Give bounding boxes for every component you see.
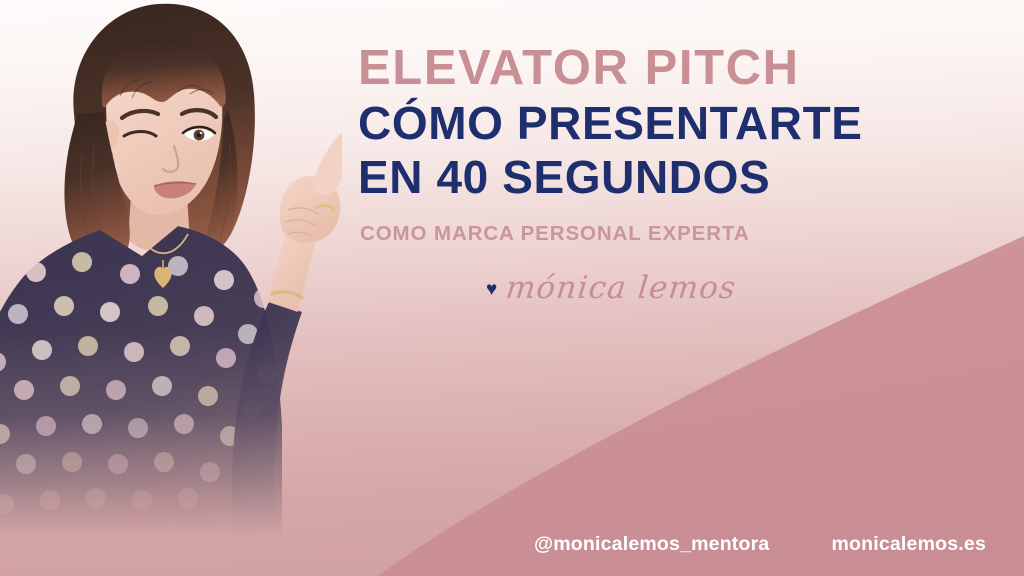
pointing-index-finger [312, 132, 342, 195]
signature-block: ♥ mónica lemos [358, 270, 998, 306]
headline-line-1: ELEVATOR PITCH [358, 44, 998, 93]
headline-line-2: CÓMO PRESENTARTE [358, 99, 998, 149]
headline-block: ELEVATOR PITCH CÓMO PRESENTARTE EN 40 SE… [358, 44, 998, 306]
signature-name: mónica lemos [504, 270, 738, 306]
instagram-handle[interactable]: @monicalemos_mentora [534, 533, 769, 556]
headline-line-3: EN 40 SEGUNDOS [358, 153, 998, 203]
subtitle: COMO MARCA PERSONAL EXPERTA [360, 222, 998, 246]
poster-canvas: ELEVATOR PITCH CÓMO PRESENTARTE EN 40 SE… [0, 0, 1024, 576]
footer-bar: @monicalemos_mentora monicalemos.es [0, 512, 1024, 576]
presenter-photo [0, 0, 342, 554]
website-url[interactable]: monicalemos.es [831, 533, 986, 556]
heart-icon: ♥ [486, 280, 497, 299]
